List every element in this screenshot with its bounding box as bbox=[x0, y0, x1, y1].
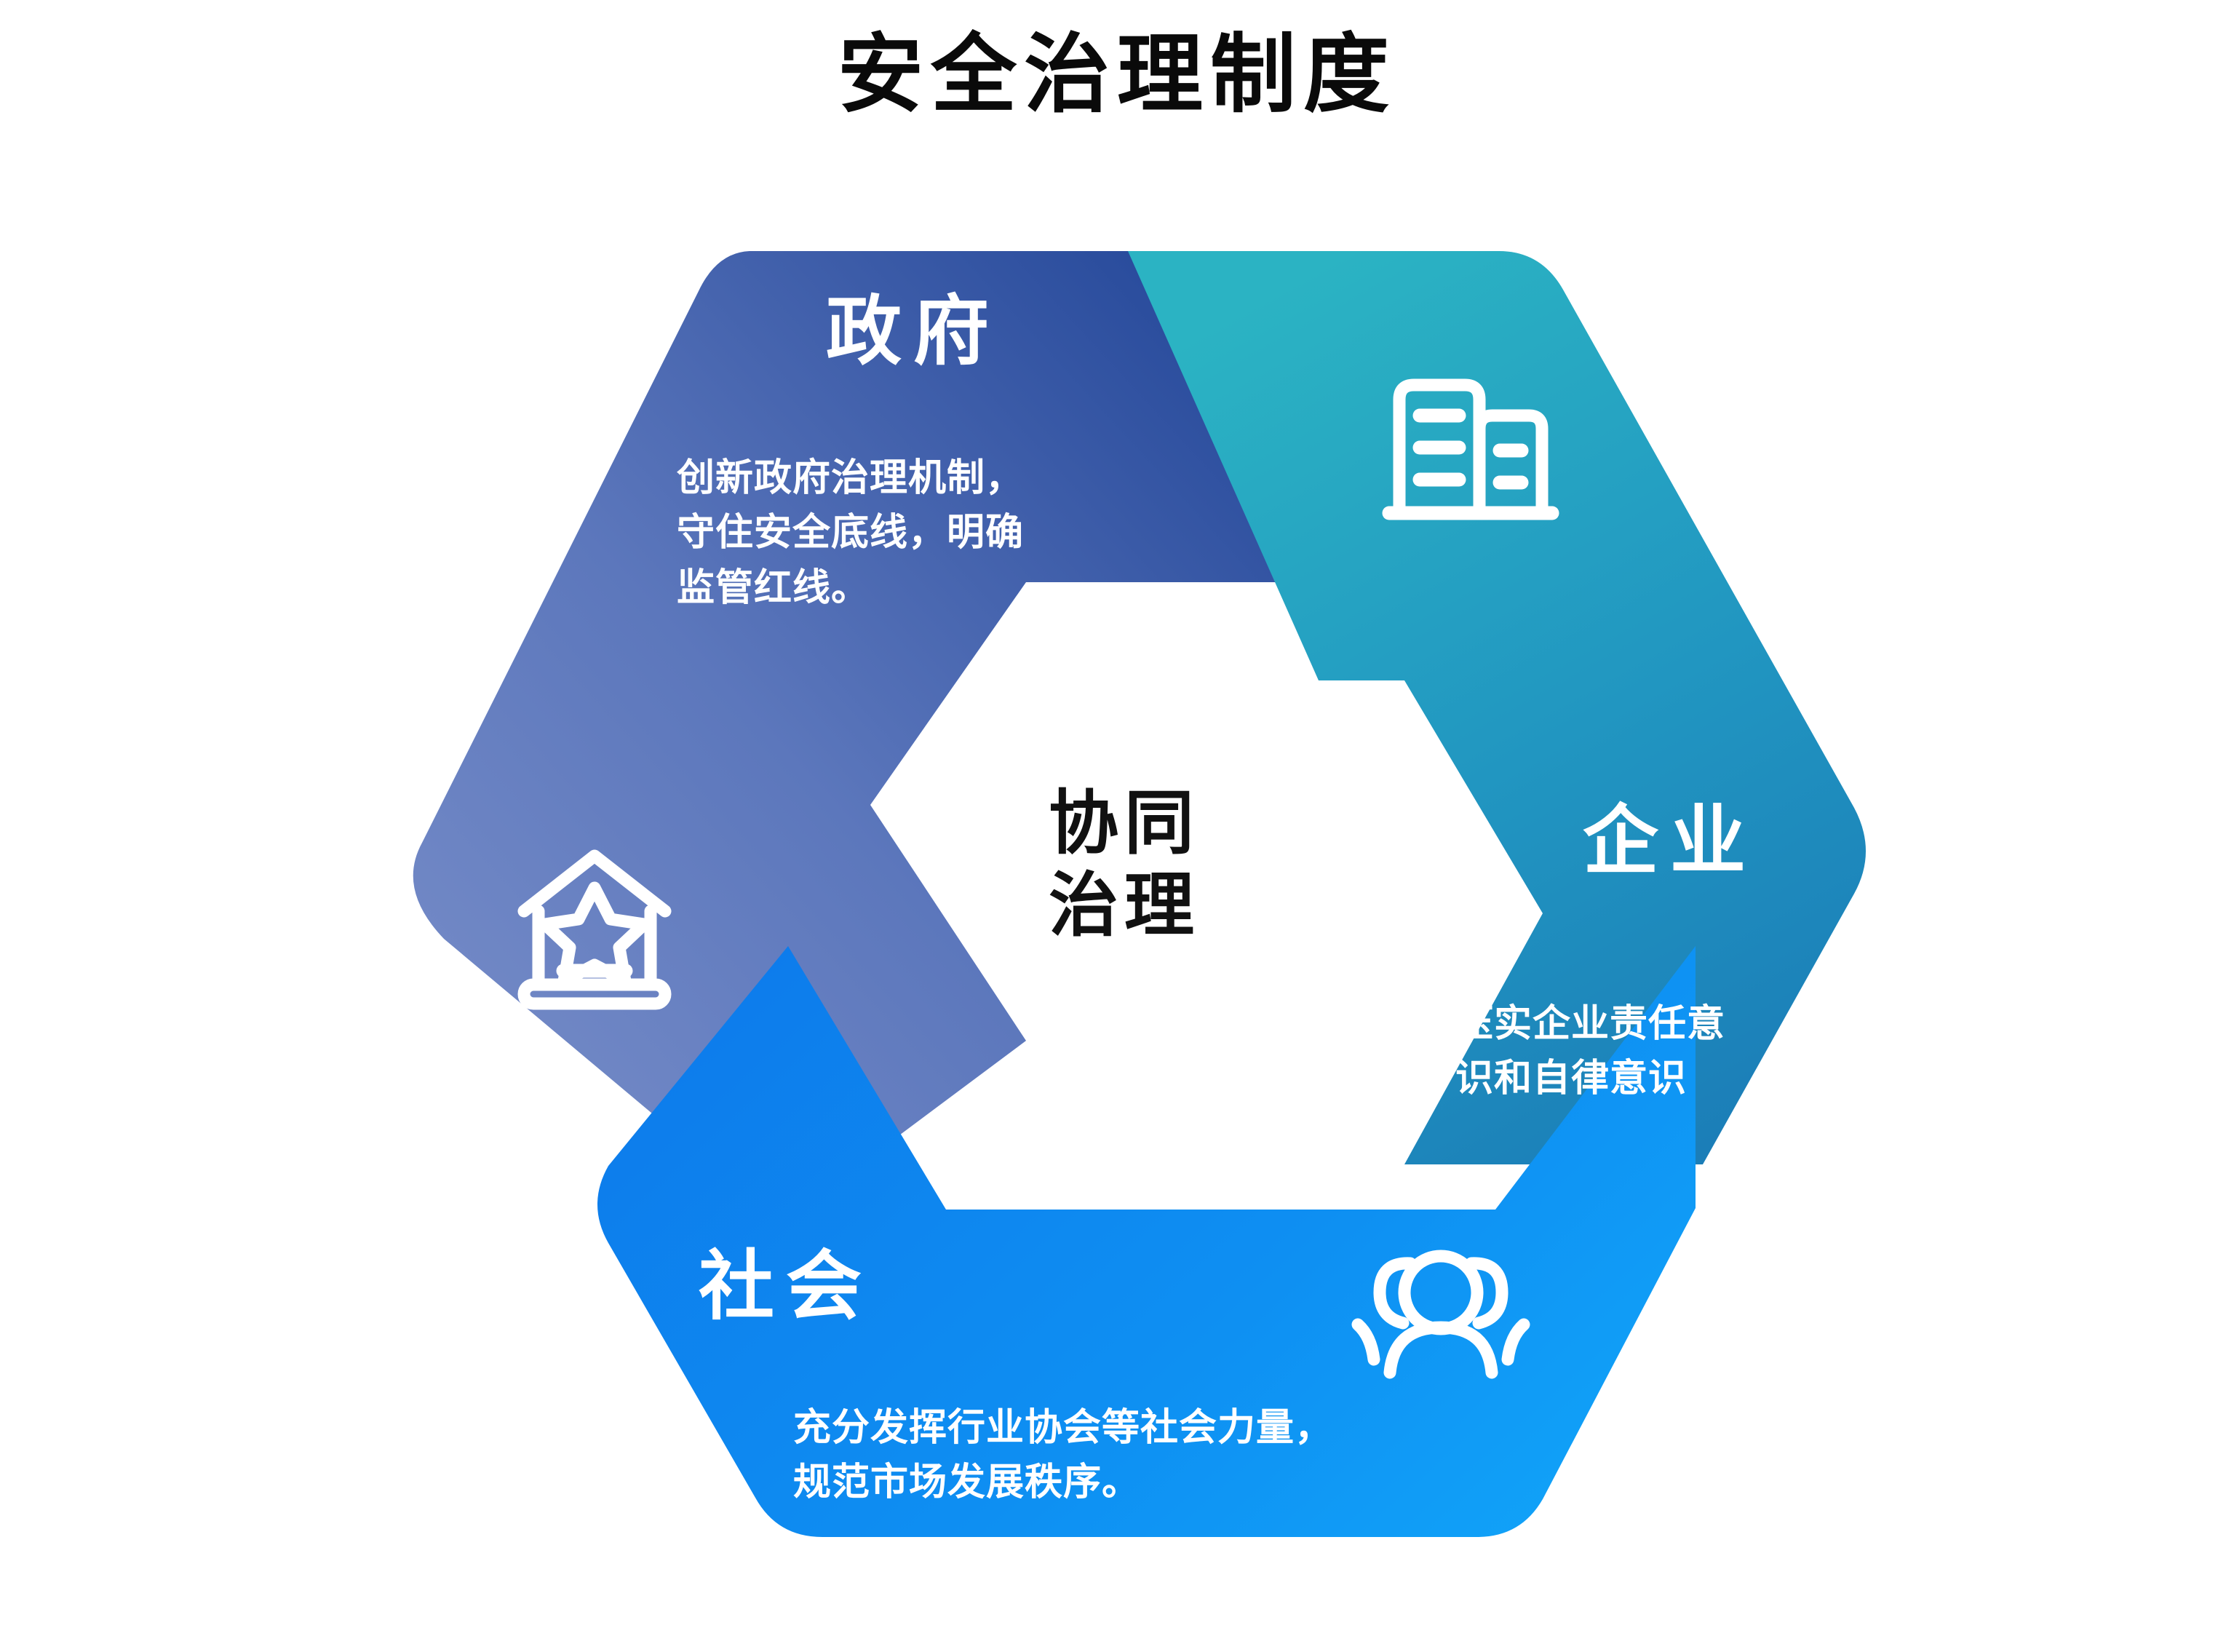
center-label-line2: 治理 bbox=[935, 865, 1313, 947]
center-label: 协同 治理 bbox=[935, 782, 1313, 948]
desc-line: 充分发挥行业协会等社会力量， bbox=[793, 1401, 1477, 1456]
desc-line: 监管红线。 bbox=[677, 561, 1142, 616]
segment-heading-government: 政府 bbox=[826, 290, 1001, 373]
infographic-stage: 安全治理制度 bbox=[0, 0, 2234, 1652]
desc-line: 规范市场发展秩序。 bbox=[793, 1456, 1477, 1510]
desc-line: 守住安全底线，明确 bbox=[677, 506, 1142, 560]
segment-heading-enterprise: 企业 bbox=[1583, 799, 1757, 882]
segment-description-enterprise: 压实企业责任意 识和自律意识 bbox=[1455, 997, 1834, 1107]
segment-description-society: 充分发挥行业协会等社会力量， 规范市场发展秩序。 bbox=[793, 1401, 1477, 1511]
desc-line: 压实企业责任意 bbox=[1455, 997, 1834, 1052]
segment-heading-society: 社会 bbox=[699, 1244, 873, 1327]
desc-line: 创新政府治理机制， bbox=[677, 451, 1142, 506]
segment-description-government: 创新政府治理机制， 守住安全底线，明确 监管红线。 bbox=[677, 451, 1142, 616]
center-label-line1: 协同 bbox=[935, 782, 1313, 865]
desc-line: 识和自律意识 bbox=[1455, 1052, 1834, 1106]
